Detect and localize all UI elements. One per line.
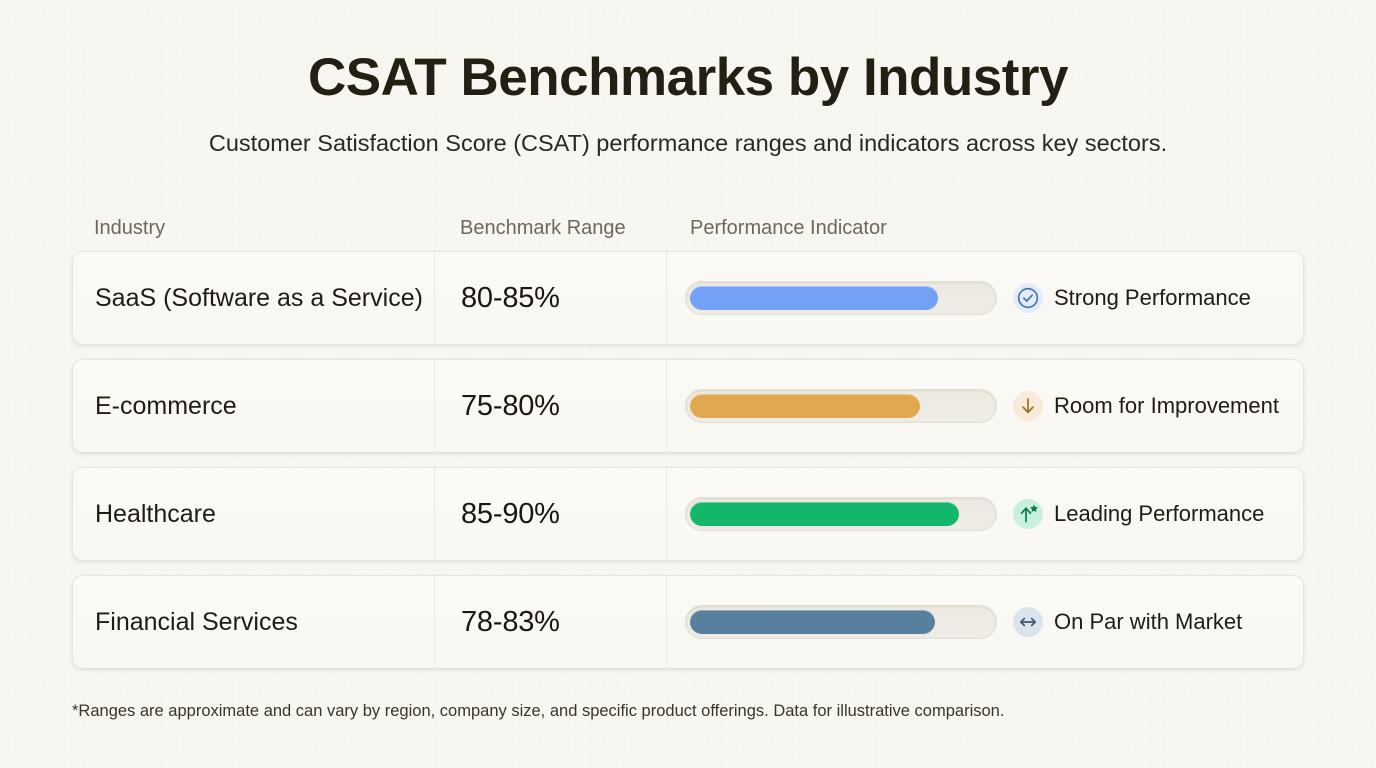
indicator-label: Leading Performance xyxy=(1054,501,1264,527)
table-header-row: Industry Benchmark Range Performance Ind… xyxy=(72,205,1304,251)
performance-indicator: Leading Performance xyxy=(1013,499,1264,529)
cell-performance-indicator: Room for Improvement xyxy=(667,360,1303,452)
cell-industry: Healthcare xyxy=(73,468,435,560)
page-subtitle: Customer Satisfaction Score (CSAT) perfo… xyxy=(0,128,1376,159)
table-row[interactable]: Healthcare 85-90% Leading Performance xyxy=(72,467,1304,561)
progress-bar-fill xyxy=(690,502,959,526)
cell-benchmark-range: 78-83% xyxy=(435,576,667,668)
check-circle-icon xyxy=(1013,283,1043,313)
cell-industry: SaaS (Software as a Service) xyxy=(73,252,435,344)
indicator-label: Room for Improvement xyxy=(1054,393,1279,419)
column-header-industry: Industry xyxy=(72,217,434,240)
table-row[interactable]: Financial Services 78-83% On Par with Ma… xyxy=(72,575,1304,669)
column-header-benchmark-range: Benchmark Range xyxy=(434,217,666,240)
arrow-up-star-icon xyxy=(1013,499,1043,529)
progress-bar-track xyxy=(685,497,997,531)
progress-bar-fill xyxy=(690,610,935,634)
column-header-performance-indicator: Performance Indicator xyxy=(666,217,1304,240)
table-row[interactable]: SaaS (Software as a Service) 80-85% Stro… xyxy=(72,251,1304,345)
benchmark-table: Industry Benchmark Range Performance Ind… xyxy=(72,205,1304,683)
progress-bar-track xyxy=(685,389,997,423)
cell-benchmark-range: 80-85% xyxy=(435,252,667,344)
performance-indicator: On Par with Market xyxy=(1013,607,1242,637)
footnote: *Ranges are approximate and can vary by … xyxy=(72,702,1004,721)
progress-bar-fill xyxy=(690,394,920,418)
progress-bar-track xyxy=(685,605,997,639)
table-row[interactable]: E-commerce 75-80% Room for Improvement xyxy=(72,359,1304,453)
arrow-down-icon xyxy=(1013,391,1043,421)
indicator-label: On Par with Market xyxy=(1054,609,1242,635)
indicator-label: Strong Performance xyxy=(1054,285,1251,311)
cell-benchmark-range: 85-90% xyxy=(435,468,667,560)
cell-performance-indicator: Leading Performance xyxy=(667,468,1303,560)
cell-performance-indicator: Strong Performance xyxy=(667,252,1303,344)
performance-indicator: Room for Improvement xyxy=(1013,391,1279,421)
cell-industry: Financial Services xyxy=(73,576,435,668)
page-title: CSAT Benchmarks by Industry xyxy=(0,48,1376,107)
cell-benchmark-range: 75-80% xyxy=(435,360,667,452)
cell-industry: E-commerce xyxy=(73,360,435,452)
performance-indicator: Strong Performance xyxy=(1013,283,1251,313)
progress-bar-track xyxy=(685,281,997,315)
progress-bar-fill xyxy=(690,286,938,310)
arrows-left-right-icon xyxy=(1013,607,1043,637)
cell-performance-indicator: On Par with Market xyxy=(667,576,1303,668)
infographic-page: CSAT Benchmarks by Industry Customer Sat… xyxy=(0,0,1376,768)
